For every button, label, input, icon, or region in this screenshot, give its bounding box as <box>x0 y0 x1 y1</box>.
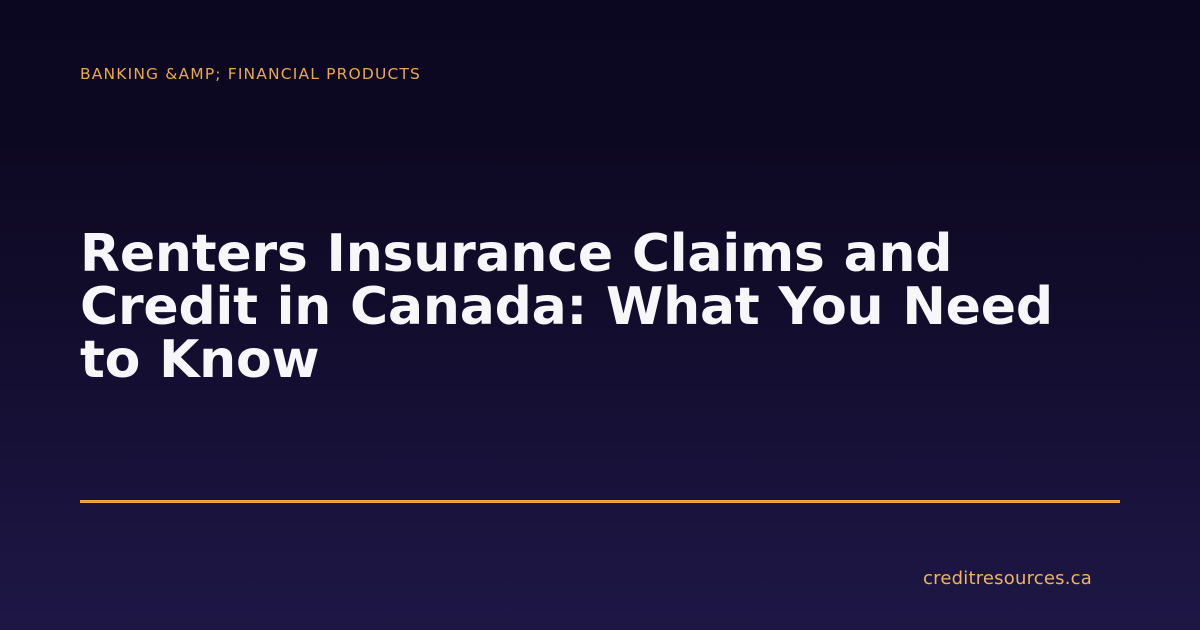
category-kicker-label: BANKING &AMP; FINANCIAL PRODUCTS <box>80 62 421 86</box>
accent-divider <box>80 500 1120 503</box>
site-domain-label: creditresources.ca <box>923 566 1120 592</box>
category-kicker: BANKING &AMP; FINANCIAL PRODUCTS <box>80 62 421 86</box>
social-share-card: BANKING &AMP; FINANCIAL PRODUCTS Renters… <box>0 0 1200 630</box>
card-footer: creditresources.ca <box>80 566 1120 592</box>
headline-block: Renters Insurance Claims and Credit in C… <box>80 228 1125 387</box>
page-title: Renters Insurance Claims and Credit in C… <box>80 228 1125 387</box>
